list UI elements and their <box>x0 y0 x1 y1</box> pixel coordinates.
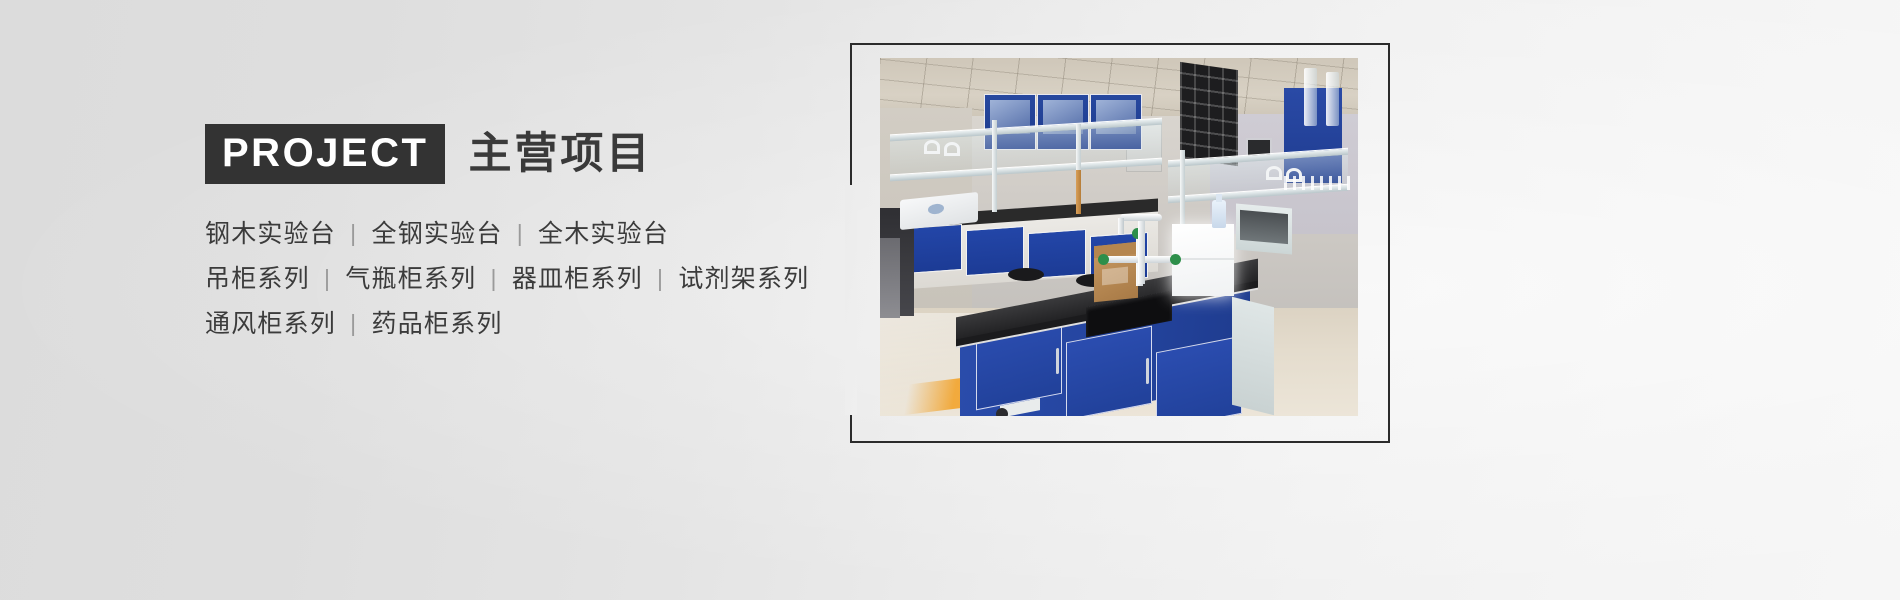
photo-wash-bottle <box>1212 200 1226 228</box>
photo-island-door <box>1066 326 1152 416</box>
photo-burette <box>1076 170 1081 214</box>
photo-glassware-clamp <box>1266 166 1282 180</box>
separator: | <box>484 256 503 301</box>
project-text-block: PROJECT 主营项目 钢木实验台 | 全钢实验台 | 全木实验台 吊柜系列 … <box>205 126 855 347</box>
photo-fume-hood-glass <box>1240 210 1288 244</box>
photo-glass-cylinder <box>1304 68 1317 126</box>
separator: | <box>318 256 337 301</box>
laboratory-furniture-photo <box>880 58 1358 416</box>
photo-island-side-cabinet <box>1232 297 1274 415</box>
category-item[interactable]: 气瓶柜系列 <box>345 265 476 293</box>
photo-faucet-arm <box>1120 214 1162 221</box>
photo-wash-bottle-neck <box>1216 194 1222 202</box>
photo-drying-rack-pegs <box>1180 62 1238 166</box>
photo-glassware-clamp <box>944 142 960 156</box>
category-line: 通风柜系列 | 药品柜系列 <box>205 302 855 347</box>
category-list: 钢木实验台 | 全钢实验台 | 全木实验台 吊柜系列 | 气瓶柜系列 | 器皿柜… <box>205 212 855 347</box>
photo-white-instrument <box>1172 224 1234 296</box>
category-item[interactable]: 器皿柜系列 <box>512 265 643 293</box>
photo-door-handle <box>1146 358 1149 385</box>
category-line: 吊柜系列 | 气瓶柜系列 | 器皿柜系列 | 试剂架系列 <box>205 257 855 302</box>
photo-left-cabinet-side <box>880 238 900 318</box>
photo-faucet-spout <box>1118 218 1124 234</box>
photo-shelf-post <box>992 120 997 212</box>
photo-funnel-row <box>1284 176 1350 190</box>
page-title-cn: 主营项目 <box>468 133 652 176</box>
separator: | <box>651 256 670 301</box>
photo-island-caster <box>996 408 1008 416</box>
photo-door-handle <box>1056 348 1059 375</box>
project-badge: PROJECT <box>205 124 445 184</box>
photo-valve-knob <box>1098 254 1109 265</box>
category-item[interactable]: 试剂架系列 <box>678 265 809 293</box>
photo-lab-stool <box>1008 268 1044 281</box>
photo-valve-knob <box>1170 254 1181 265</box>
category-item[interactable]: 通风柜系列 <box>205 310 336 338</box>
photo-glassware-clamp <box>924 140 940 154</box>
project-banner: PROJECT 主营项目 钢木实验台 | 全钢实验台 | 全木实验台 吊柜系列 … <box>0 0 1900 600</box>
category-item[interactable]: 全钢实验台 <box>372 220 503 248</box>
photo-glass-cylinder <box>1326 72 1339 126</box>
category-line: 钢木实验台 | 全钢实验台 | 全木实验台 <box>205 212 855 257</box>
category-item[interactable]: 药品柜系列 <box>372 310 503 338</box>
photo-instrument-seam <box>1172 258 1234 260</box>
separator: | <box>344 301 363 346</box>
separator: | <box>511 211 530 256</box>
photo-faucet-column <box>1138 216 1145 284</box>
separator: | <box>344 211 363 256</box>
category-item[interactable]: 全木实验台 <box>538 220 669 248</box>
category-item[interactable]: 钢木实验台 <box>205 220 336 248</box>
category-item[interactable]: 吊柜系列 <box>205 265 310 293</box>
photo-box-label <box>1102 267 1128 286</box>
page-title: PROJECT 主营项目 <box>205 126 855 182</box>
